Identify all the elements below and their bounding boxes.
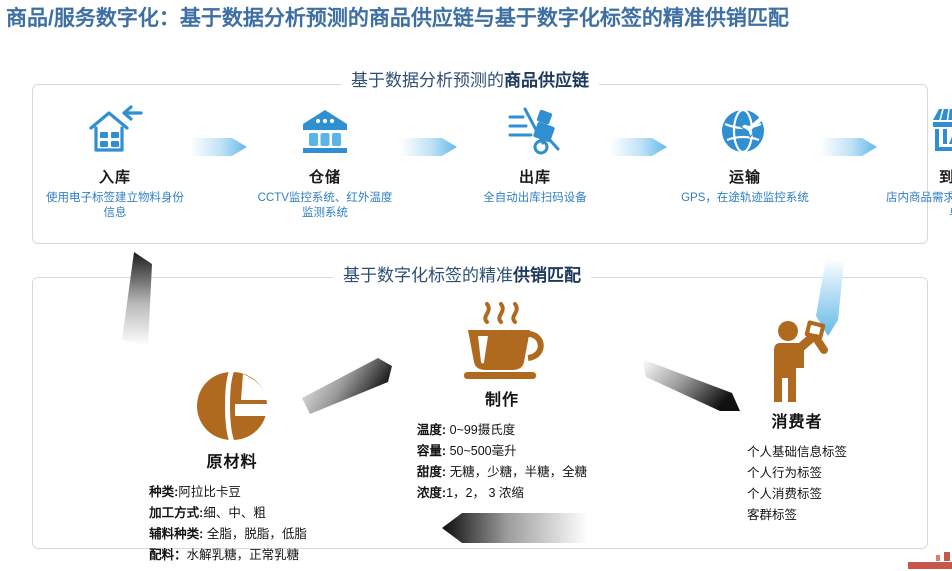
chain-step-desc: GPS，在途轨迹监控系统: [675, 191, 815, 206]
coffee-bean-icon: [193, 368, 271, 444]
chain-step-label: 仓储: [309, 166, 341, 187]
match-block-production[interactable]: 制作 温度: 0~99摄氏度 容量: 50~500毫升 甜度: 无糖，少糖，半糖…: [362, 300, 642, 504]
match-block-lines: 个人基础信息标签 个人行为标签 个人消费标签 客群标签: [747, 442, 847, 526]
globe-plane-icon: [719, 102, 771, 158]
list-item: 配料：水解乳糖，正常乳糖: [149, 545, 307, 566]
list-item: 浓度:1，2， 3 浓缩: [417, 483, 587, 504]
chain-step-store[interactable]: 到店 店内商品需求预测，提前下单: [880, 96, 952, 221]
chevron-right-icon-4: [820, 134, 880, 160]
match-block-title: 消费者: [771, 408, 822, 432]
supply-header-prefix: 基于数据分析预测的: [351, 71, 504, 90]
match-content: 原材料 种类:阿拉比卡豆 加工方式:细、中、粗 辅料种类: 全脂，脱脂，低脂 配…: [32, 290, 928, 548]
supply-chain-section-header: 基于数据分析预测的商品供应链: [341, 66, 599, 91]
coffee-cup-icon: [454, 300, 550, 382]
list-item: 甜度: 无糖，少糖，半糖，全糖: [417, 462, 587, 483]
house-inbound-icon: [87, 102, 143, 158]
chain-step-desc: CCTV监控系统、红外温度监测系统: [255, 191, 395, 221]
match-section-header: 基于数字化标签的精准供销匹配: [333, 261, 591, 286]
chevron-right-icon-2: [400, 134, 460, 160]
person-drinking-icon: [754, 320, 840, 404]
list-item: 个人基础信息标签: [747, 442, 847, 463]
watermark-bar: [908, 562, 952, 569]
chevron-right-icon-3: [610, 134, 670, 160]
match-block-title: 原材料: [206, 448, 257, 472]
chain-step-warehouse[interactable]: 仓储 CCTV监控系统、红外温度监测系统: [250, 96, 400, 221]
chain-step-desc: 店内商品需求预测，提前下单: [885, 191, 952, 221]
storefront-icon: [929, 102, 952, 158]
match-block-lines: 温度: 0~99摄氏度 容量: 50~500毫升 甜度: 无糖，少糖，半糖，全糖…: [417, 420, 587, 504]
supply-chain-steps: 入库 使用电子标签建立物料身份信息: [32, 96, 928, 236]
chain-step-desc: 使用电子标签建立物料身份信息: [45, 191, 185, 221]
match-header-prefix: 基于数字化标签的精准: [343, 266, 513, 285]
match-block-raw-material[interactable]: 原材料 种类:阿拉比卡豆 加工方式:细、中、粗 辅料种类: 全脂，脱脂，低脂 配…: [82, 368, 382, 566]
chain-step-inbound[interactable]: 入库 使用电子标签建立物料身份信息: [40, 96, 190, 221]
list-item: 容量: 50~500毫升: [417, 441, 587, 462]
match-block-consumer[interactable]: 消费者 个人基础信息标签 个人行为标签 个人消费标签 客群标签: [672, 320, 922, 526]
chain-step-label: 到店: [939, 166, 952, 187]
chain-step-transport[interactable]: 运输 GPS，在途轨迹监控系统: [670, 96, 820, 206]
list-item: 客群标签: [747, 505, 847, 526]
page-title: 商品/服务数字化：基于数据分析预测的商品供应链与基于数字化标签的精准供销匹配: [6, 4, 886, 33]
list-item: 个人消费标签: [747, 484, 847, 505]
warehouse-icon: [299, 102, 351, 158]
match-block-lines: 种类:阿拉比卡豆 加工方式:细、中、粗 辅料种类: 全脂，脱脂，低脂 配料：水解…: [149, 482, 307, 566]
hand-truck-icon: [508, 102, 562, 158]
watermark-square: [944, 552, 950, 561]
chain-step-label: 运输: [729, 166, 761, 187]
match-block-title: 制作: [485, 386, 519, 410]
chain-step-label: 出库: [519, 166, 551, 187]
match-header-bold: 供销匹配: [513, 266, 581, 285]
list-item: 个人行为标签: [747, 463, 847, 484]
list-item: 温度: 0~99摄氏度: [417, 420, 587, 441]
chain-step-outbound[interactable]: 出库 全自动出库扫码设备: [460, 96, 610, 206]
watermark-logo: [904, 551, 952, 571]
watermark-square-small: [936, 555, 940, 561]
list-item: 种类:阿拉比卡豆: [149, 482, 307, 503]
supply-header-bold: 商品供应链: [504, 71, 589, 90]
chevron-right-icon-1: [190, 134, 250, 160]
chain-step-label: 入库: [99, 166, 131, 187]
list-item: 加工方式:细、中、粗: [149, 503, 307, 524]
chain-step-desc: 全自动出库扫码设备: [465, 191, 605, 206]
list-item: 辅料种类: 全脂，脱脂，低脂: [149, 524, 307, 545]
